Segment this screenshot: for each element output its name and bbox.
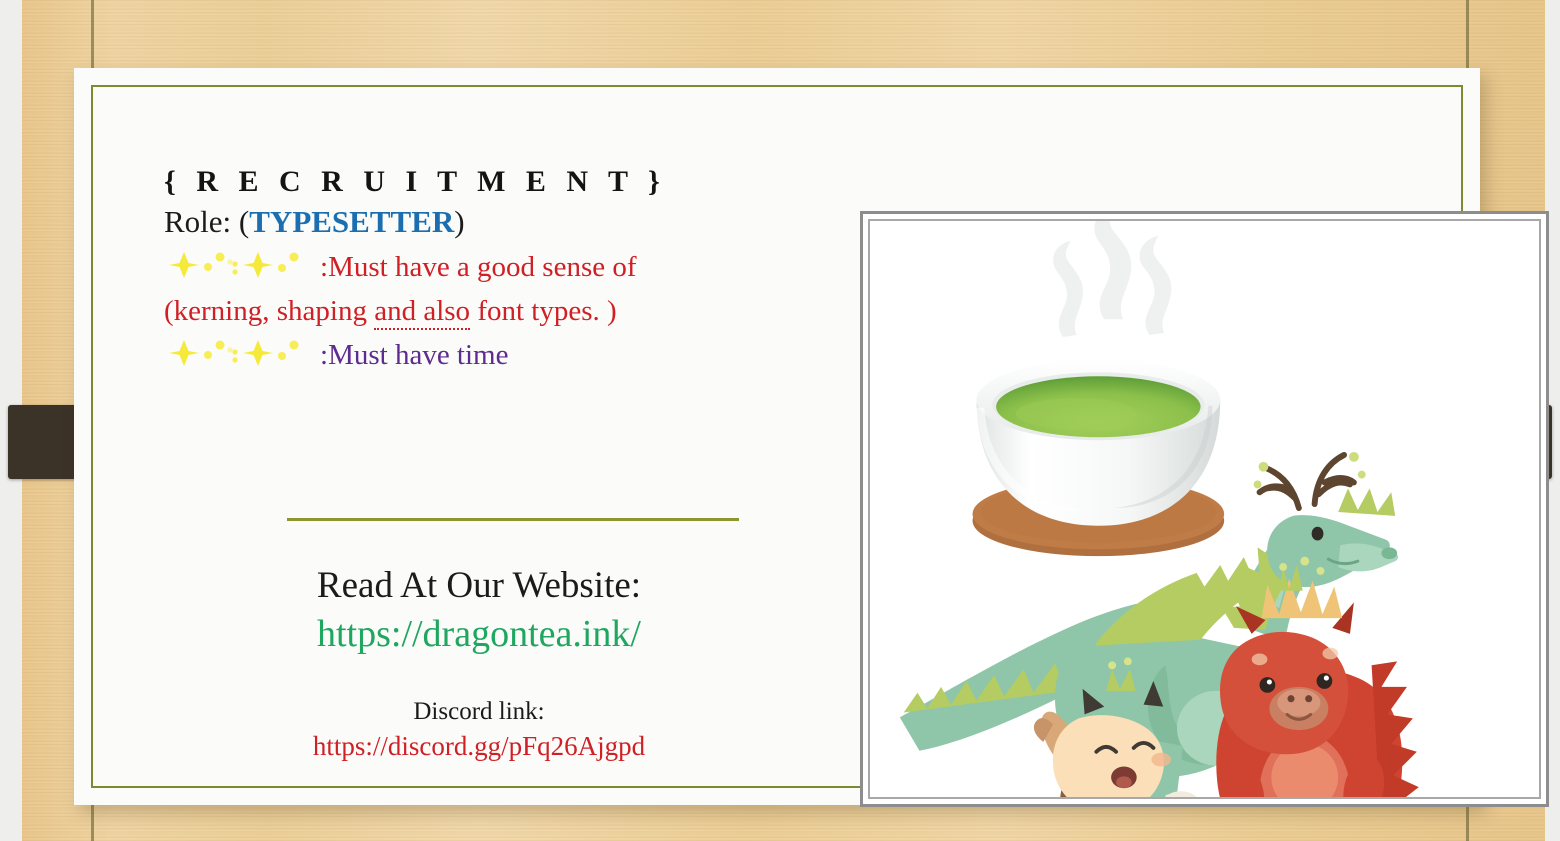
role-close-paren: ): [454, 204, 464, 239]
requirement-text: Must have time: [328, 339, 508, 371]
slide-canvas: { R E C R U I T M E N T } Role: (TYPESET…: [0, 0, 1560, 841]
requirement-text-pre: (kerning, shaping: [164, 295, 374, 327]
promo-block: Read At Our Website: https://dragontea.i…: [164, 566, 794, 761]
website-heading: Read At Our Website:: [164, 566, 794, 607]
page-title: { R E C R U I T M E N T }: [164, 166, 794, 198]
section-divider: [287, 518, 739, 521]
artwork-frame-inner: [868, 219, 1541, 799]
discord-url-link[interactable]: https://discord.gg/pFq26Ajgpd: [164, 732, 794, 762]
role-label: Role: (: [164, 204, 249, 239]
requirement-colon: :: [320, 339, 328, 371]
requirement-item-2: :Must have time: [164, 333, 794, 377]
antlers-icon: [1260, 455, 1354, 508]
sparkle-divider-icon: [164, 250, 316, 280]
website-url-link[interactable]: https://dragontea.ink/: [164, 611, 794, 659]
role-line: Role: (TYPESETTER): [164, 200, 794, 245]
matcha-and-dragons-illustration: [870, 221, 1539, 797]
requirement-text-post: font types. ): [470, 295, 617, 327]
requirement-text: Must have a good sense of: [328, 251, 636, 283]
artwork-frame: [860, 211, 1549, 807]
role-value: TYPESETTER: [249, 204, 454, 239]
steam-icon: [1053, 221, 1171, 337]
requirement-item-1-continued: (kerning, shaping and also font types. ): [164, 289, 794, 333]
recruitment-text-column: { R E C R U I T M E N T } Role: (TYPESET…: [164, 166, 794, 378]
poster-content: { R E C R U I T M E N T } Role: (TYPESET…: [74, 68, 1480, 805]
discord-heading: Discord link:: [164, 698, 794, 726]
requirement-colon: :: [320, 251, 328, 283]
sparkle-divider-icon: [164, 338, 316, 368]
recruitment-poster-card: { R E C R U I T M E N T } Role: (TYPESET…: [74, 68, 1480, 805]
requirement-item-1: :Must have a good sense of: [164, 245, 794, 289]
requirement-text-underlined: and also: [374, 295, 470, 330]
